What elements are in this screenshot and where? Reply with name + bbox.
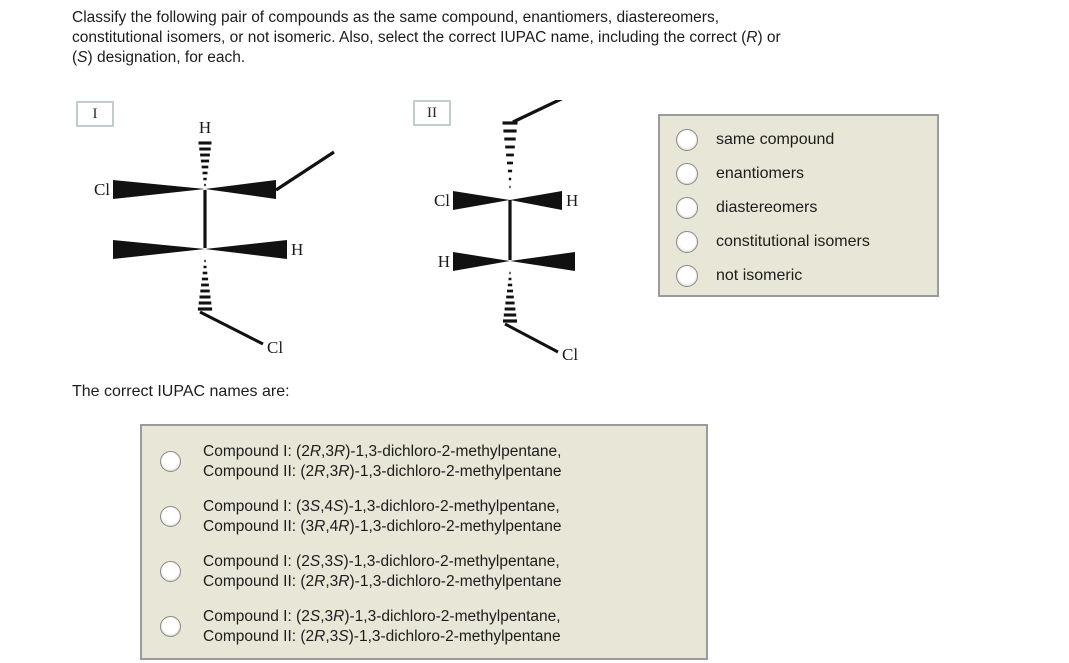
descriptor-s: S	[77, 49, 87, 66]
hash-wedge-up-top-carbon	[199, 143, 212, 185]
iupac-1-line1-post: )-1,3-dichloro-2-methylpentane,	[345, 443, 561, 460]
iupac-1-line2-pre: Compound II: (2	[203, 463, 314, 480]
atom-label-cl-bottom: Cl	[562, 345, 578, 364]
iupac-3-line2-config1: R	[314, 573, 325, 590]
classification-option-constitutional-isomers[interactable]: constitutional isomers	[660, 225, 937, 259]
iupac-4-line2-mid: ,3	[325, 628, 338, 645]
bold-wedge-left-top-carbon	[453, 191, 510, 210]
classification-option-same-compound[interactable]: same compound	[660, 123, 937, 157]
atom-label-h-bottom-right: H	[291, 240, 303, 259]
iupac-2-line1-mid: ,4	[320, 498, 333, 515]
bold-wedge-right-top-carbon	[205, 180, 276, 199]
iupac-3-line1-pre: Compound I: (2	[203, 553, 310, 570]
iupac-4-line2-post: )-1,3-dichloro-2-methylpentane	[349, 628, 561, 645]
radio-button-same-compound[interactable]	[676, 129, 698, 151]
iupac-3-line2-config2: R	[338, 573, 349, 590]
bond-ch2cl-bottom	[505, 324, 558, 352]
iupac-2-line2-config1: R	[314, 518, 325, 535]
bold-wedge-right-top-carbon	[510, 191, 562, 210]
classification-label-constitutional-isomers: constitutional isomers	[716, 233, 870, 251]
bond-ch2cl-bottom	[200, 312, 263, 344]
radio-button-iupac-3[interactable]	[160, 561, 181, 582]
iupac-1-line2-config2: R	[338, 463, 349, 480]
iupac-2-line1-pre: Compound I: (3	[203, 498, 310, 515]
iupac-option-2[interactable]: Compound I: (3S,4S)-1,3-dichloro-2-methy…	[142, 489, 706, 544]
iupac-4-line1-config2: R	[333, 608, 344, 625]
iupac-options-panel: Compound I: (2R,3R)-1,3-dichloro-2-methy…	[140, 424, 708, 660]
iupac-option-2-text: Compound I: (3S,4S)-1,3-dichloro-2-methy…	[203, 497, 561, 536]
iupac-4-line2-config2: S	[338, 628, 348, 645]
classification-option-enantiomers[interactable]: enantiomers	[660, 157, 937, 191]
radio-button-iupac-2[interactable]	[160, 506, 181, 527]
iupac-4-line1-pre: Compound I: (2	[203, 608, 310, 625]
atom-label-cl-top-left: Cl	[94, 180, 110, 199]
atom-label-h-bottom-left: H	[438, 252, 450, 271]
iupac-2-line1-config2: S	[333, 498, 343, 515]
iupac-3-line1-config1: S	[310, 553, 320, 570]
iupac-2-line2-config2: R	[338, 518, 349, 535]
hash-wedge-down-bottom-carbon	[503, 273, 517, 321]
question-line-2a: constitutional isomers, or not isomeric.…	[72, 29, 746, 46]
structure-diagram-compound-i: H Cl H Cl	[80, 110, 370, 360]
bold-wedge-right-bottom-carbon-methyl	[510, 252, 575, 271]
compound-i-svg: H Cl H Cl	[80, 110, 370, 360]
hash-wedge-down-bottom-carbon	[198, 261, 212, 309]
iupac-3-line2-post: )-1,3-dichloro-2-methylpentane	[350, 573, 562, 590]
atom-label-h-top-right: H	[566, 191, 578, 210]
bold-wedge-left-bottom-carbon	[453, 252, 510, 271]
iupac-3-line2-pre: Compound II: (2	[203, 573, 314, 590]
iupac-4-line2-config1: R	[314, 628, 325, 645]
bond-ethyl-chain-top	[276, 152, 334, 190]
iupac-4-line1-config1: S	[310, 608, 320, 625]
hash-wedge-up-top-carbon	[503, 123, 518, 187]
iupac-1-line1-config2: R	[334, 443, 345, 460]
iupac-1-line2-config1: R	[314, 463, 325, 480]
iupac-option-3-text: Compound I: (2S,3S)-1,3-dichloro-2-methy…	[203, 552, 561, 591]
iupac-option-1-text: Compound I: (2R,3R)-1,3-dichloro-2-methy…	[203, 442, 561, 481]
classification-label-not-isomeric: not isomeric	[716, 267, 802, 285]
classification-label-same-compound: same compound	[716, 131, 834, 149]
question-line-3b: ) designation, for each.	[88, 49, 246, 66]
iupac-2-line2-pre: Compound II: (3	[203, 518, 314, 535]
atom-label-h-top: H	[199, 118, 211, 137]
iupac-option-3[interactable]: Compound I: (2S,3S)-1,3-dichloro-2-methy…	[142, 544, 706, 599]
iupac-3-line1-config2: S	[333, 553, 343, 570]
bond-ethyl-chain-top	[513, 100, 576, 122]
iupac-4-line1-mid: ,3	[320, 608, 333, 625]
radio-button-constitutional-isomers[interactable]	[676, 231, 698, 253]
radio-button-diastereomers[interactable]	[676, 197, 698, 219]
radio-button-enantiomers[interactable]	[676, 163, 698, 185]
bold-wedge-left-bottom-carbon-methyl	[113, 240, 205, 259]
classification-options-panel: same compound enantiomers diastereomers …	[658, 114, 939, 297]
question-line-2b: ) or	[757, 29, 780, 46]
question-prompt: Classify the following pair of compounds…	[72, 8, 1032, 68]
iupac-option-1[interactable]: Compound I: (2R,3R)-1,3-dichloro-2-methy…	[142, 434, 706, 489]
atom-label-cl-top-left: Cl	[434, 191, 450, 210]
classification-option-not-isomeric[interactable]: not isomeric	[660, 259, 937, 293]
descriptor-r: R	[746, 29, 757, 46]
iupac-3-line2-mid: ,3	[325, 573, 338, 590]
iupac-3-line1-mid: ,3	[320, 553, 333, 570]
radio-button-not-isomeric[interactable]	[676, 265, 698, 287]
iupac-3-line1-post: )-1,3-dichloro-2-methylpentane,	[343, 553, 559, 570]
classification-label-diastereomers: diastereomers	[716, 199, 817, 217]
iupac-2-line2-post: )-1,3-dichloro-2-methylpentane	[350, 518, 562, 535]
iupac-option-4-text: Compound I: (2S,3R)-1,3-dichloro-2-methy…	[203, 607, 561, 646]
classification-option-diastereomers[interactable]: diastereomers	[660, 191, 937, 225]
iupac-4-line2-pre: Compound II: (2	[203, 628, 314, 645]
bold-wedge-right-bottom-carbon	[205, 240, 287, 259]
iupac-option-4[interactable]: Compound I: (2S,3R)-1,3-dichloro-2-methy…	[142, 599, 706, 654]
radio-button-iupac-1[interactable]	[160, 451, 181, 472]
iupac-1-line1-mid: ,3	[321, 443, 334, 460]
iupac-2-line2-mid: ,4	[325, 518, 338, 535]
iupac-2-line1-post: )-1,3-dichloro-2-methylpentane,	[343, 498, 559, 515]
iupac-4-line1-post: )-1,3-dichloro-2-methylpentane,	[344, 608, 560, 625]
iupac-1-line2-post: )-1,3-dichloro-2-methylpentane	[350, 463, 562, 480]
iupac-1-line2-mid: ,3	[325, 463, 338, 480]
radio-button-iupac-4[interactable]	[160, 616, 181, 637]
iupac-1-line1-pre: Compound I: (2	[203, 443, 310, 460]
bold-wedge-left-top-carbon	[113, 180, 205, 199]
iupac-2-line1-config1: S	[310, 498, 320, 515]
iupac-intro-text: The correct IUPAC names are:	[72, 383, 290, 401]
question-line-1: Classify the following pair of compounds…	[72, 9, 719, 26]
atom-label-cl-bottom: Cl	[267, 338, 283, 357]
iupac-1-line1-config1: R	[310, 443, 321, 460]
classification-label-enantiomers: enantiomers	[716, 165, 804, 183]
